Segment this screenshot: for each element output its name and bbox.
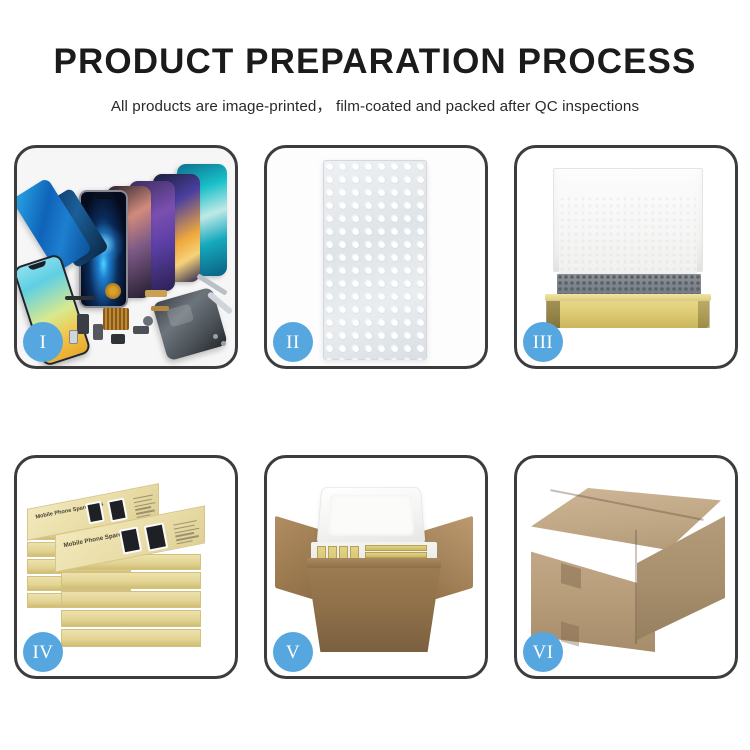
screw-icon [213,334,218,339]
step-badge-2: II [273,322,313,362]
stacked-box-side [61,629,201,647]
carton-body-icon [307,564,441,652]
page-title: PRODUCT PREPARATION PROCESS [0,0,750,81]
button-part-icon [143,316,153,326]
carton-rim-icon [307,558,441,568]
box-rim-icon [545,294,711,301]
screw-icon [221,341,226,346]
carton-tape-icon [561,621,579,646]
process-step-grid: I II [14,145,738,679]
step-panel-4[interactable]: Mobile Phone Spare Parts Mobile Phone Sp… [14,455,238,679]
stacked-box-side [61,610,201,627]
box-spec-lines [173,520,203,547]
step-badge-1: I [23,322,63,362]
speaker-part-icon [111,334,125,344]
step-badge-3: III [523,322,563,362]
step-panel-5[interactable]: V [264,455,488,679]
carton-corner-edge-icon [635,530,637,644]
ribbon-icon [151,306,169,311]
step-panel-3[interactable]: III [514,145,738,369]
bracket-icon [133,326,149,334]
step-panel-6[interactable]: VI [514,455,738,679]
logic-board-icon [103,308,129,330]
stacked-box-side [61,591,201,608]
yellow-box-base-icon [547,298,709,328]
sim-tray-icon [69,330,78,344]
camera-module-icon [93,324,103,340]
step-badge-6: VI [523,632,563,672]
foam-lid-icon [316,487,425,546]
stacked-box-side [61,572,201,589]
step-panel-1[interactable]: I [14,145,238,369]
battery-part-icon [77,314,89,334]
bubble-wrap-icon [323,160,427,360]
step-badge-4: IV [23,632,63,672]
coil-part-icon [105,283,121,299]
flex-cable-icon [65,296,95,300]
step-panel-2[interactable]: II [264,145,488,369]
foam-sheet-icon [559,196,697,278]
connector-icon [145,290,167,297]
page-header: PRODUCT PREPARATION PROCESS All products… [0,0,750,116]
page-subtitle: All products are image-printed， film-coa… [0,81,750,116]
step-badge-5: V [273,632,313,672]
product-preparation-page: PRODUCT PREPARATION PROCESS All products… [0,0,750,750]
